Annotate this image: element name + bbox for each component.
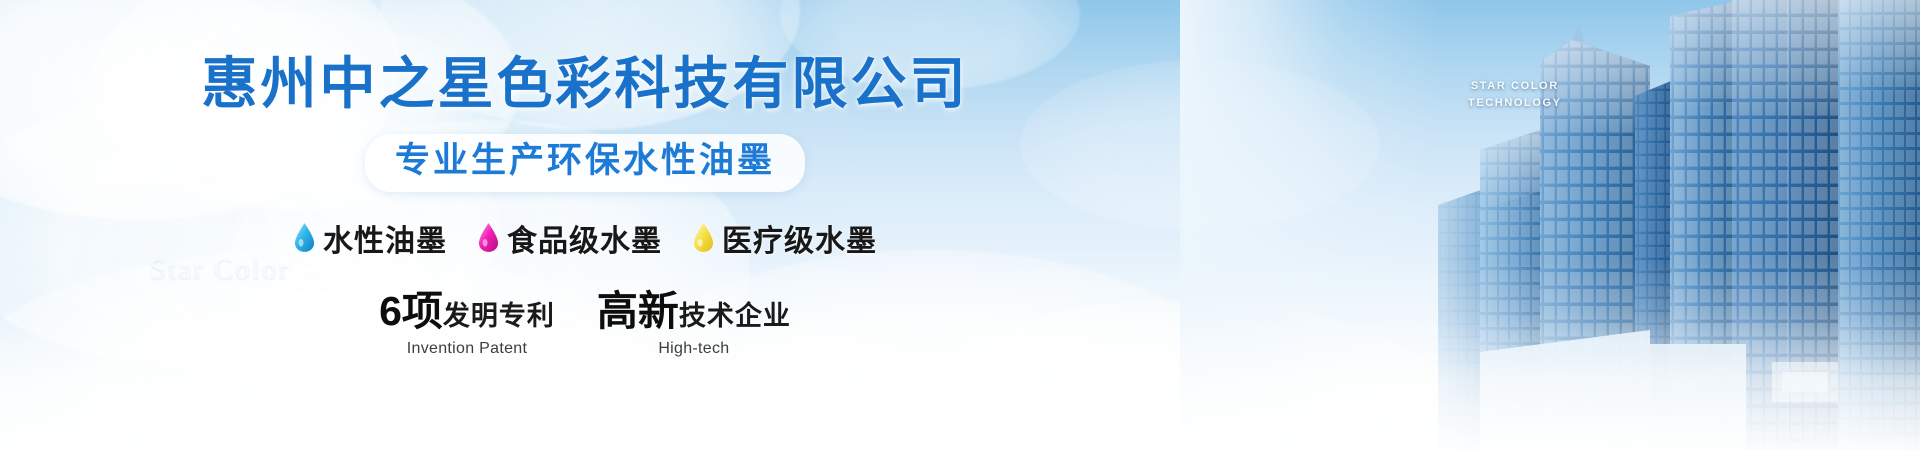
credential-subtitle-en: Invention Patent — [407, 340, 527, 358]
credential-headline: 6项 发明专利 — [379, 290, 555, 333]
credential-subtitle-en: High-tech — [658, 340, 729, 358]
hero-banner: STAR COLOR TECHNOLOGY Star Color 惠州中之星色彩… — [0, 0, 1920, 450]
feature-item-medical-grade-ink: 医疗级水墨 — [692, 216, 877, 260]
credential-invention-patent: 6项 发明专利 Invention Patent — [379, 290, 555, 358]
feature-label: 食品级水墨 — [507, 216, 662, 260]
credential-highlight: 高新 — [597, 290, 679, 333]
tagline-text: 专业生产环保水性油墨 — [395, 142, 775, 181]
banner-content: 惠州中之星色彩科技有限公司 专业生产环保水性油墨 水性油 — [0, 0, 1170, 450]
credential-high-tech-enterprise: 高新 技术企业 High-tech — [597, 290, 791, 358]
feature-label: 水性油墨 — [323, 216, 447, 260]
credential-text: 发明专利 — [443, 302, 555, 330]
feature-item-food-grade-ink: 食品级水墨 — [477, 216, 662, 260]
credential-highlight: 6项 — [379, 290, 443, 333]
credentials-list: 6项 发明专利 Invention Patent 高新 技术企业 High-te… — [379, 290, 791, 358]
tagline-pill: 专业生产环保水性油墨 — [365, 134, 805, 192]
credential-text: 技术企业 — [679, 302, 791, 330]
credential-headline: 高新 技术企业 — [597, 290, 791, 333]
ink-drop-icon — [293, 222, 316, 253]
feature-list: 水性油墨 食品级水墨 — [293, 216, 877, 260]
feature-item-water-based-ink: 水性油墨 — [293, 216, 447, 260]
ink-drop-icon — [692, 222, 715, 253]
ink-drop-icon — [477, 222, 500, 253]
company-title: 惠州中之星色彩科技有限公司 — [202, 56, 969, 112]
feature-label: 医疗级水墨 — [722, 216, 877, 260]
